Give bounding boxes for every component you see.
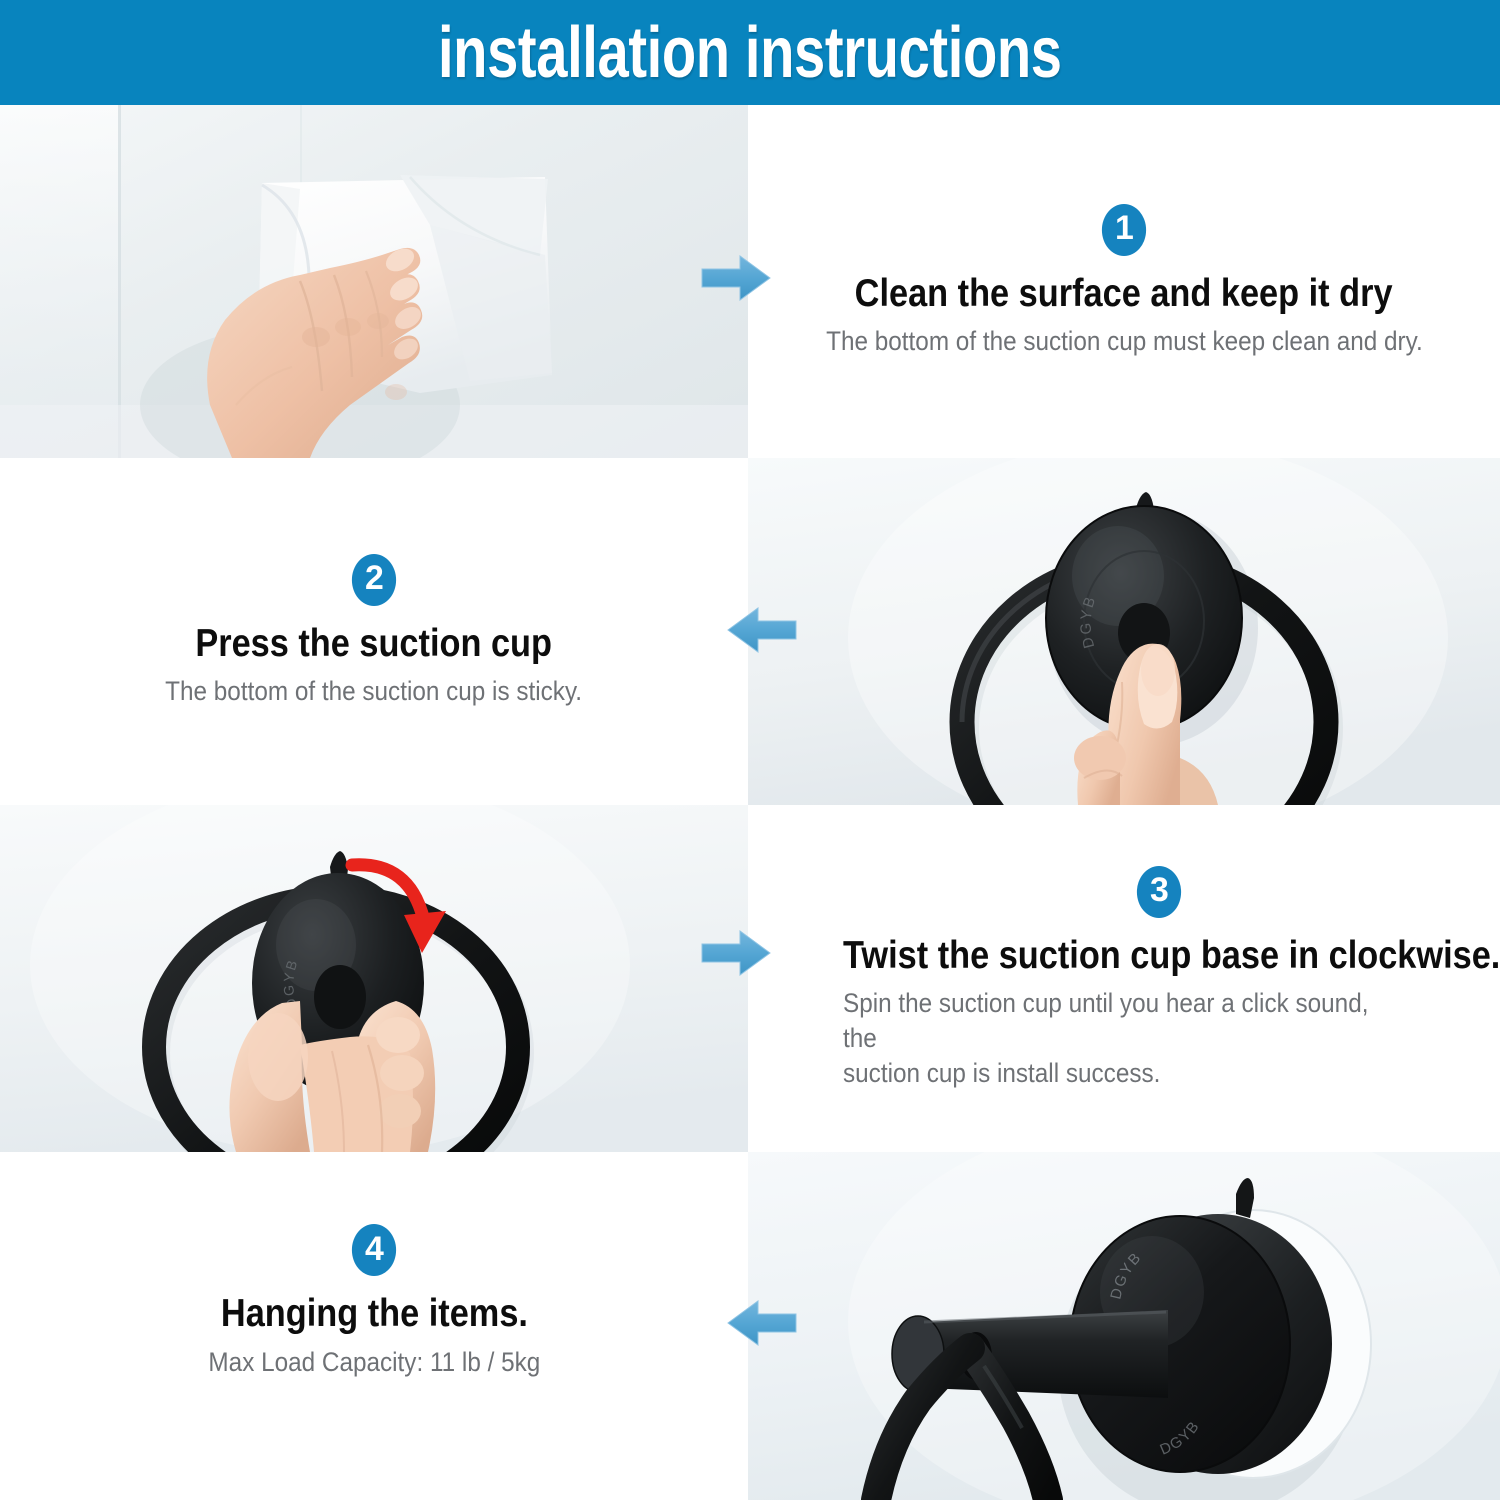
step-1-number: 1 xyxy=(1115,211,1134,248)
installation-instructions-page: installation instructions xyxy=(0,0,1500,1500)
step-3-photo: DGYB xyxy=(0,805,748,1152)
step-4-badge: 4 xyxy=(352,1224,396,1276)
step-2-photo: DGYB xyxy=(748,458,1500,805)
step-2-subtitle: The bottom of the suction cup is sticky. xyxy=(166,674,583,709)
arrow-right-icon xyxy=(700,253,772,303)
step-3-textblock: 3 Twist the suction cup base in clockwis… xyxy=(748,805,1500,1152)
step-1-textblock: 1 Clean the surface and keep it dry The … xyxy=(748,105,1500,458)
step-3-heading: Twist the suction cup base in clockwise. xyxy=(843,934,1500,978)
step-4-number: 4 xyxy=(365,1232,384,1269)
step-3-text-cell: 3 Twist the suction cup base in clockwis… xyxy=(748,805,1500,1152)
step-2-heading: Press the suction cup xyxy=(196,622,553,666)
twist-suction-cup-illustration: DGYB xyxy=(0,805,748,1152)
arrow-left-icon xyxy=(726,1298,798,1348)
mounted-towel-ring-product-illustration: DGYB DGYB xyxy=(748,1152,1500,1500)
step-3-arrow-right xyxy=(700,928,772,983)
step-3-number: 3 xyxy=(1150,873,1169,910)
step-2-arrow-left xyxy=(726,605,798,660)
arrow-left-icon xyxy=(726,605,798,655)
hand-wiping-surface-illustration xyxy=(0,105,748,458)
step-1-subtitle: The bottom of the suction cup must keep … xyxy=(826,324,1423,359)
step-4-text-cell: 4 Hanging the items. Max Load Capacity: … xyxy=(0,1152,748,1500)
step-4-heading: Hanging the items. xyxy=(220,1292,527,1336)
page-header: installation instructions xyxy=(0,0,1500,105)
step-4-textblock: 4 Hanging the items. Max Load Capacity: … xyxy=(0,1152,748,1500)
step-1-badge: 1 xyxy=(1102,204,1146,256)
press-suction-cup-illustration: DGYB xyxy=(748,458,1500,805)
step-1-arrow-right xyxy=(700,253,772,308)
arrow-right-icon xyxy=(700,928,772,978)
step-2-number: 2 xyxy=(365,561,384,598)
step-3-subtitle: Spin the suction cup until you hear a cl… xyxy=(843,986,1404,1091)
step-4-arrow-left xyxy=(726,1298,798,1353)
step-2-textblock: 2 Press the suction cup The bottom of th… xyxy=(0,458,748,805)
steps-grid: 1 Clean the surface and keep it dry The … xyxy=(0,105,1500,1500)
step-1-heading: Clean the surface and keep it dry xyxy=(855,272,1393,316)
step-2-badge: 2 xyxy=(352,554,396,606)
step-4-photo: DGYB DGYB xyxy=(748,1152,1500,1500)
step-3-badge: 3 xyxy=(1137,866,1181,918)
step-1-photo xyxy=(0,105,748,458)
page-title: installation instructions xyxy=(438,17,1062,89)
step-1-text-cell: 1 Clean the surface and keep it dry The … xyxy=(748,105,1500,458)
step-2-text-cell: 2 Press the suction cup The bottom of th… xyxy=(0,458,748,805)
step-4-subtitle: Max Load Capacity: 11 lb / 5kg xyxy=(208,1345,540,1380)
